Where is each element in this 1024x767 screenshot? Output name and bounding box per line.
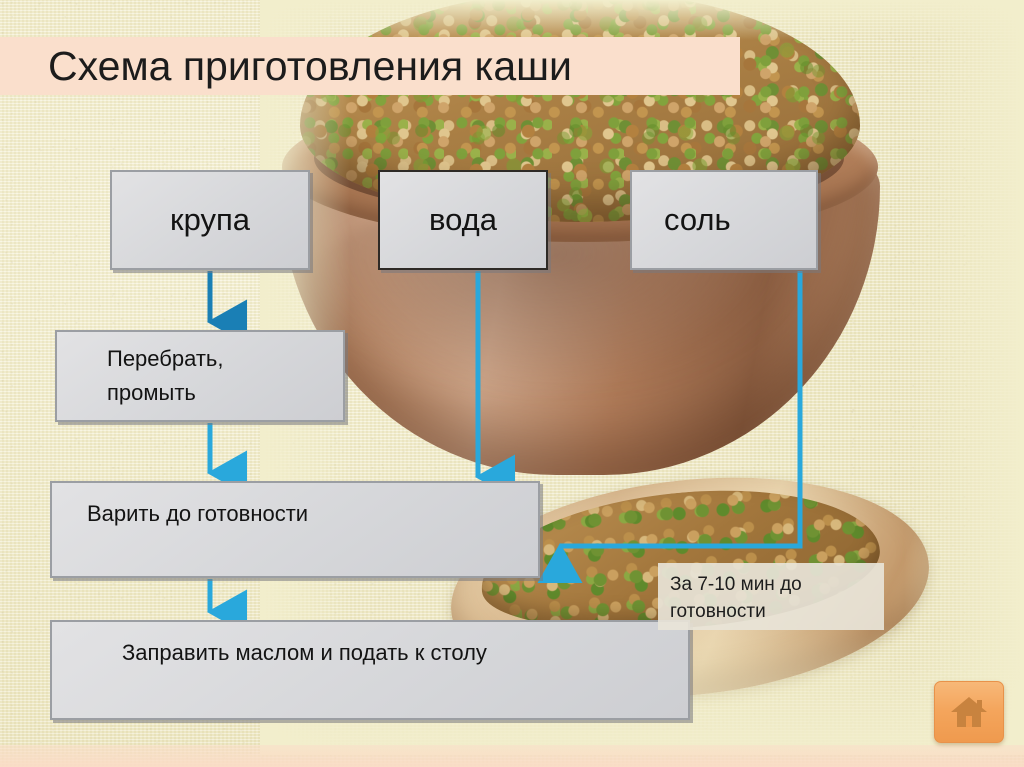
page-title: Схема приготовления каши — [48, 38, 748, 94]
bottom-band — [0, 745, 1024, 767]
node-pereb-line2: промыть — [107, 380, 196, 405]
node-varit-do-gotovnosti[interactable]: Варить до готовности — [50, 481, 540, 578]
node-krupa[interactable]: крупа — [110, 170, 310, 270]
slide-canvas: Схема приготовления каши — [0, 0, 1024, 767]
node-pereb-line1: Перебрать, — [107, 346, 224, 371]
node-sol-label: соль — [664, 202, 816, 238]
node-krupa-label: крупа — [112, 202, 308, 238]
node-zapravit-maslom[interactable]: Заправить маслом и подать к столу — [50, 620, 690, 720]
node-zapravit-label: Заправить маслом и подать к столу — [122, 640, 688, 666]
home-button[interactable] — [934, 681, 1004, 743]
node-voda-label: вода — [380, 202, 546, 238]
note-callout: За 7-10 мин до готовности — [658, 563, 884, 630]
node-sol[interactable]: соль — [630, 170, 818, 270]
node-pereb-promyt-label: Перебрать, промыть — [107, 342, 343, 410]
node-voda[interactable]: вода — [378, 170, 548, 270]
home-icon — [949, 695, 989, 729]
node-varit-label: Варить до готовности — [87, 501, 538, 527]
note-line2: готовности — [670, 598, 884, 625]
note-line1: За 7-10 мин до — [670, 571, 884, 598]
node-pereb-promyt[interactable]: Перебрать, промыть — [55, 330, 345, 422]
